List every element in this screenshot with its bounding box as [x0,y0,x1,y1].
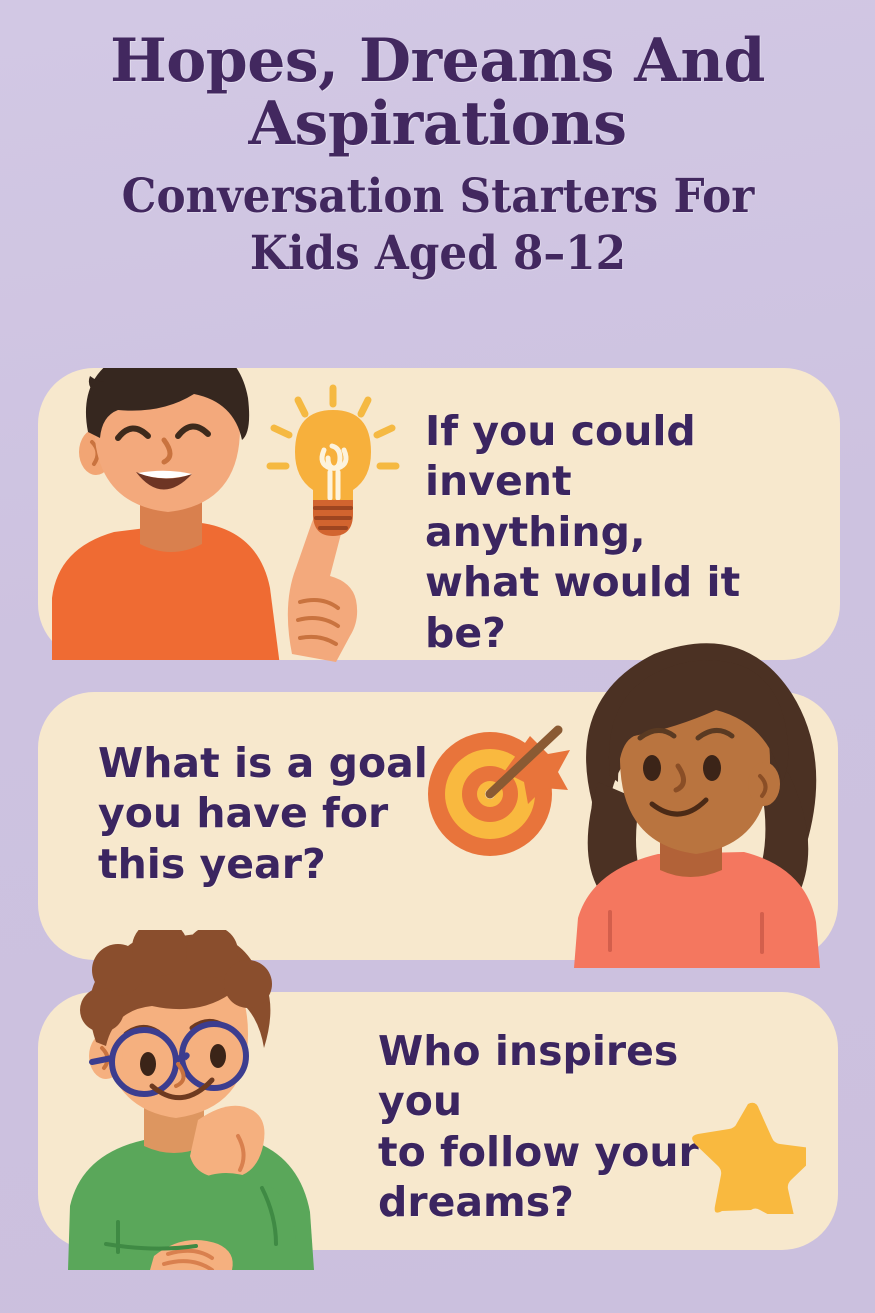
boy-with-glasses-illustration [48,930,378,1274]
girl-smiling-illustration [548,632,848,972]
page-subtitle: Conversation Starters For Kids Aged 8–12 [70,168,805,283]
star-icon [686,1098,806,1218]
question-text-2: What is a goal you have for this year? [98,738,438,889]
poster-canvas: Hopes, Dreams And Aspirations Conversati… [0,0,875,1313]
lightbulb-icon [258,382,408,546]
poster-header: Hopes, Dreams And Aspirations Conversati… [0,30,875,283]
question-text-1: If you could invent anything, what would… [425,406,765,658]
page-title: Hopes, Dreams And Aspirations [78,30,798,156]
